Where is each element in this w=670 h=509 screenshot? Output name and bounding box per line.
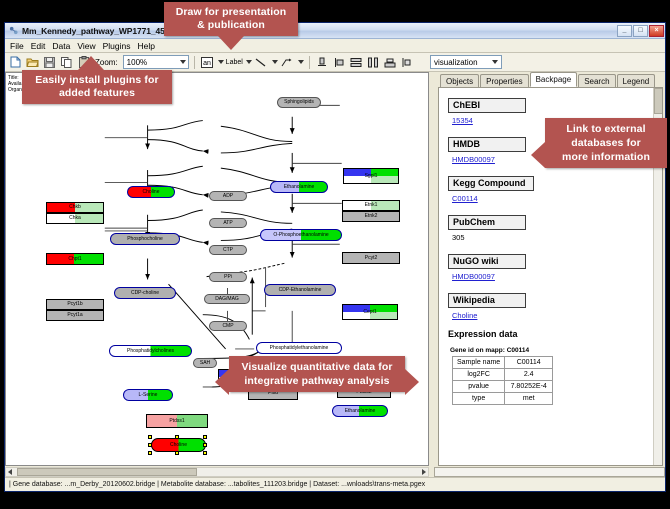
text-tool-chevron-icon[interactable] (218, 60, 224, 64)
node-dagmag[interactable]: DAG/MAG (204, 294, 250, 304)
line-tool-icon[interactable] (254, 55, 269, 70)
gene-chpt1[interactable]: Chpt1 (46, 253, 104, 265)
node-ethanolamine-bottom[interactable]: Ethanolamine (332, 405, 388, 417)
node-cmp[interactable]: CMP (209, 321, 247, 331)
selection-handle-ne[interactable] (203, 435, 207, 439)
node-o-phosphoethanolamine[interactable]: O-Phosphoethanolamine (260, 229, 342, 241)
visualization-value: visualization (434, 58, 478, 67)
callout-draw-arrow (218, 36, 244, 50)
gene-etnk1[interactable]: Etnk1 (342, 200, 400, 211)
node-phosphocholine[interactable]: Phosphocholine (110, 233, 180, 245)
menu-view[interactable]: View (77, 41, 95, 51)
backpage-value-pubchem: 305 (452, 233, 662, 242)
interaction-tool-chevron-icon[interactable] (298, 60, 304, 64)
chevron-down-icon[interactable] (180, 60, 186, 64)
node-ctp[interactable]: CTP (209, 245, 247, 255)
callout-link-line1: Link to external (553, 122, 659, 136)
table-row: type met (453, 393, 553, 405)
table-cell-key: Sample name (453, 357, 505, 369)
callout-visualize-line2: integrative pathway analysis (237, 374, 397, 388)
selection-handle-n[interactable] (175, 435, 179, 439)
backpage-heading-chebi: ChEBI (448, 98, 526, 113)
selection-handle-se[interactable] (203, 451, 207, 455)
table-row: pvalue 7.80252E-4 (453, 381, 553, 393)
order-icon[interactable] (400, 55, 415, 70)
menu-file[interactable]: File (10, 41, 24, 51)
node-choline-selected[interactable]: Choline (151, 438, 206, 452)
selection-handle-e[interactable] (203, 443, 207, 447)
callout-plugins: Easily install plugins for added feature… (22, 70, 172, 104)
gene-pcyt1a[interactable]: Pcyt1a (46, 310, 104, 321)
table-cell-key: log2FC (453, 369, 505, 381)
bottom-scroll-row (5, 466, 665, 477)
gene-sgpl1[interactable]: Sgpl1 (343, 168, 399, 184)
node-cdp-choline[interactable]: CDP-choline (114, 287, 176, 299)
node-choline-top[interactable]: Choline (127, 186, 175, 198)
gene-pcyt2[interactable]: Pcyt2 (342, 252, 400, 264)
menubar: File Edit Data View Plugins Help (5, 39, 665, 53)
callout-plugins-line2: added features (30, 87, 164, 100)
gene-etnk2[interactable]: Etnk2 (342, 211, 400, 222)
gene-chkb[interactable]: Chkb (46, 202, 104, 213)
expression-data-title: Expression data (448, 329, 662, 339)
scroll-right-arrow-icon[interactable] (422, 469, 426, 475)
node-phosphatidylethanolamine[interactable]: Phosphatidylethanolamine (256, 342, 342, 354)
backpage-heading-hmdb: HMDB (448, 137, 526, 152)
callout-link: Link to external databases for more info… (545, 118, 667, 168)
table-cell-value: met (505, 393, 553, 405)
tab-search[interactable]: Search (578, 74, 615, 87)
callout-link-line3: more information (553, 150, 659, 164)
tab-objects[interactable]: Objects (440, 74, 479, 87)
copy-icon[interactable] (59, 55, 74, 70)
backpage-link-kegg[interactable]: C00114 (452, 194, 662, 203)
node-cdp-ethanolamine[interactable]: CDP-Ethanolamine (264, 284, 336, 296)
backpage-heading-nugo: NuGO wiki (448, 254, 526, 269)
table-cell-key: type (453, 393, 505, 405)
selection-handle-sw[interactable] (148, 451, 152, 455)
node-l-serine-left[interactable]: L-Serine (123, 389, 173, 401)
toolbar-separator (194, 56, 195, 69)
gene-ptdss1[interactable]: Ptdss1 (146, 414, 208, 428)
gene-id-line: Gene id on mapp: C00114 (450, 347, 662, 354)
table-row: Sample name C00114 (453, 357, 553, 369)
table-cell-key: pvalue (453, 381, 505, 393)
selection-handle-nw[interactable] (148, 435, 152, 439)
table-row: log2FC 2.4 (453, 369, 553, 381)
callout-plugins-line1: Easily install plugins for (30, 74, 164, 87)
tab-properties[interactable]: Properties (480, 74, 528, 87)
gene-cept1[interactable]: Cept1 (342, 304, 398, 320)
toolbar-separator-2 (309, 56, 310, 69)
scrollbar-thumb[interactable] (17, 468, 197, 476)
backpage-heading-kegg: Kegg Compound (448, 176, 534, 191)
open-folder-icon[interactable] (25, 55, 40, 70)
menu-data[interactable]: Data (52, 41, 70, 51)
backpage-heading-pubchem: PubChem (448, 215, 526, 230)
maximize-button[interactable]: □ (633, 25, 648, 37)
tab-backpage[interactable]: Backpage (530, 72, 578, 87)
backpage-link-wikipedia[interactable]: Choline (452, 311, 662, 320)
gene-pcyt1b[interactable]: Pcyt1b (46, 299, 104, 310)
side-bottom-strip (434, 467, 665, 477)
gene-chka[interactable]: Chka (46, 213, 104, 224)
node-ethanolamine-top[interactable]: Ethanolamine (270, 181, 328, 193)
statusbar: | Gene database: ...m_Derby_20120602.bri… (5, 477, 665, 491)
node-sphingolipids[interactable]: Sphingolipids (277, 97, 321, 108)
menu-help[interactable]: Help (138, 41, 155, 51)
node-phosphatidylcholines[interactable]: Phosphatidylcholines (109, 345, 192, 357)
label-tool-chevron-icon[interactable] (246, 60, 252, 64)
window-titlebar: Mm_Kennedy_pathway_WP1771_45176.gpml _ □… (5, 23, 665, 39)
callout-draw-line1: Draw for presentation (172, 6, 290, 19)
window-controls: _ □ × (617, 25, 665, 37)
table-cell-value: 7.80252E-4 (505, 381, 553, 393)
menu-edit[interactable]: Edit (31, 41, 46, 51)
zoom-value: 100% (127, 58, 147, 67)
node-adp[interactable]: ADP (209, 191, 247, 201)
statusbar-text: | Gene database: ...m_Derby_20120602.bri… (9, 481, 425, 488)
callout-visualize: Visualize quantitative data for integrat… (229, 356, 405, 392)
backpage-heading-wikipedia: Wikipedia (448, 293, 526, 308)
svg-text:an: an (203, 60, 211, 67)
zoom-combo[interactable]: 100% (123, 55, 189, 69)
callout-visualize-arrow-left (215, 369, 229, 395)
line-tool-chevron-icon[interactable] (272, 60, 278, 64)
callout-visualize-arrow-right (405, 369, 419, 395)
text-tool-icon[interactable]: an (200, 55, 215, 70)
selection-handle-w[interactable] (148, 443, 152, 447)
callout-plugins-arrow (78, 56, 104, 70)
expression-table: Sample name C00114 log2FC 2.4 pvalue 7.8… (452, 356, 553, 405)
callout-visualize-line1: Visualize quantitative data for (237, 360, 397, 374)
save-icon[interactable] (42, 55, 57, 70)
interaction-tool-icon[interactable] (280, 55, 295, 70)
align-rows-icon[interactable] (349, 55, 364, 70)
chevron-down-icon[interactable] (492, 60, 498, 64)
menu-plugins[interactable]: Plugins (103, 41, 131, 51)
table-cell-value: 2.4 (505, 369, 553, 381)
visualization-combo[interactable]: visualization (430, 55, 502, 69)
node-sah[interactable]: SAH (193, 358, 217, 368)
table-cell-value: C00114 (505, 357, 553, 369)
callout-draw-line2: & publication (172, 19, 290, 32)
align-left-icon[interactable] (332, 55, 347, 70)
pathvisio-icon (9, 26, 18, 35)
scroll-left-arrow-icon[interactable] (8, 469, 12, 475)
stack-icon[interactable] (383, 55, 398, 70)
selection-handle-s[interactable] (175, 451, 179, 455)
callout-link-arrow (531, 142, 545, 168)
close-button[interactable]: × (649, 25, 664, 37)
node-ppi[interactable]: PPi (209, 272, 247, 282)
label-tool-label[interactable]: Label (226, 59, 243, 66)
minimize-button[interactable]: _ (617, 25, 632, 37)
node-atp[interactable]: ATP (209, 218, 247, 228)
tab-legend[interactable]: Legend (617, 74, 656, 87)
canvas-horizontal-scrollbar[interactable] (5, 467, 429, 477)
align-columns-icon[interactable] (366, 55, 381, 70)
pathway-canvas[interactable]: Title: Availa Organ (5, 72, 429, 466)
side-tabstrip: Objects Properties Backpage Search Legen… (434, 72, 665, 87)
align-top-icon[interactable] (315, 55, 330, 70)
callout-link-line2: databases for (553, 136, 659, 150)
backpage-link-nugo[interactable]: HMDB00097 (452, 272, 662, 281)
scrollbar-thumb[interactable] (654, 88, 663, 114)
new-file-icon[interactable] (8, 55, 23, 70)
callout-draw: Draw for presentation & publication (164, 2, 298, 36)
